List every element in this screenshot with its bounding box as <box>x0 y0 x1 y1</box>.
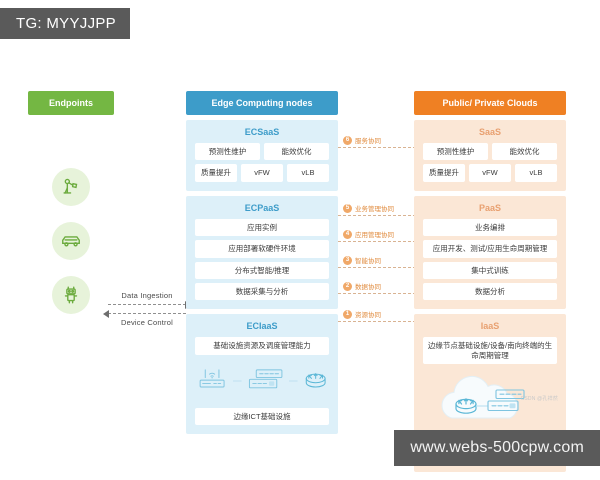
connector-app-management: 4 应用管理协同 <box>338 229 416 242</box>
paas-layer: PaaS 业务编排 应用开发、测试/应用生命周期管理 集中式训练 数据分析 <box>414 196 566 310</box>
eciaas-title: ECIaaS <box>195 321 329 331</box>
endpoints-header: Endpoints <box>28 91 114 115</box>
eciaas-icon-band <box>195 359 329 403</box>
link-line <box>289 380 298 382</box>
connector-badge: 5 <box>343 204 352 213</box>
wireless-ap-icon <box>195 364 229 398</box>
connector-label: 服务协同 <box>355 135 381 145</box>
connector-badge: 3 <box>343 256 352 265</box>
ecpaas-title: ECPaaS <box>195 203 329 213</box>
ecpaas-item[interactable]: 应用实例 <box>195 219 329 236</box>
saas-layer: SaaS 预测性维护 能效优化 质量提升 vFW vLB <box>414 120 566 191</box>
connector-label: 资源协同 <box>355 309 381 319</box>
architecture-diagram: Endpoints <box>0 78 600 408</box>
ecpaas-item[interactable]: 数据采集与分析 <box>195 283 329 300</box>
ecsaas-item[interactable]: vFW <box>241 164 283 181</box>
connector-badge: 6 <box>343 136 352 145</box>
saas-item[interactable]: 预测性维护 <box>423 143 488 160</box>
attribution-text: CSDN @孔祥然 <box>521 395 558 402</box>
saas-item[interactable]: 质量提升 <box>423 164 465 181</box>
connector-badge: 4 <box>343 230 352 239</box>
endpoint-icon-list <box>28 168 114 330</box>
paas-item[interactable]: 业务编排 <box>423 219 557 236</box>
ecsaas-item[interactable]: vLB <box>287 164 329 181</box>
saas-item[interactable]: vLB <box>515 164 557 181</box>
connector-business-management: 5 业务管理协同 <box>338 203 416 216</box>
connector-label: 智能协同 <box>355 255 381 265</box>
public-private-clouds-header: Public/ Private Clouds <box>414 91 566 115</box>
saas-row-1: 预测性维护 能效优化 <box>423 143 557 160</box>
ecsaas-layer: ECSaaS 预测性维护 能效优化 质量提升 vFW vLB <box>186 120 338 191</box>
ecsaas-item[interactable]: 预测性维护 <box>195 143 260 160</box>
paas-title: PaaS <box>423 203 557 213</box>
connector-label: 应用管理协同 <box>355 229 394 239</box>
paas-item[interactable]: 应用开发、测试/应用生命周期管理 <box>423 240 557 257</box>
connector-badge: 1 <box>343 310 352 319</box>
router-icon <box>302 366 329 396</box>
public-private-clouds-column: Public/ Private Clouds SaaS 预测性维护 能效优化 质… <box>414 91 566 472</box>
device-control-arrow <box>104 309 190 318</box>
connector-service: 6 服务协同 <box>338 135 416 148</box>
edge-computing-column: Edge Computing nodes ECSaaS 预测性维护 能效优化 质… <box>186 91 338 434</box>
ecsaas-item[interactable]: 能效优化 <box>264 143 329 160</box>
ecpaas-layer: ECPaaS 应用实例 应用部署软硬件环境 分布式智能/推理 数据采集与分析 <box>186 196 338 310</box>
eciaas-footer[interactable]: 边缘ICT基础设施 <box>195 408 329 425</box>
tg-banner: TG: MYYJJPP <box>0 8 130 39</box>
ecsaas-row-2: 质量提升 vFW vLB <box>195 164 329 181</box>
edge-computing-header: Edge Computing nodes <box>186 91 338 115</box>
saas-item[interactable]: vFW <box>469 164 511 181</box>
iaas-item[interactable]: 边缘节点基础设施/设备/南向终端的生命周期管理 <box>423 337 557 364</box>
data-ingestion-label: Data Ingestion <box>104 291 190 300</box>
robot-arm-icon <box>52 168 90 206</box>
ecpaas-item[interactable]: 应用部署软硬件环境 <box>195 240 329 257</box>
endpoints-column: Endpoints <box>28 91 114 115</box>
paas-item[interactable]: 集中式训练 <box>423 262 557 279</box>
humanoid-robot-icon <box>52 276 90 314</box>
eciaas-layer: ECIaaS 基础设施资源及调度管理能力 <box>186 314 338 434</box>
ecsaas-row-1: 预测性维护 能效优化 <box>195 143 329 160</box>
saas-item[interactable]: 能效优化 <box>492 143 557 160</box>
link-line <box>233 380 242 382</box>
endpoint-flow-arrows: Data Ingestion Device Control <box>104 291 190 327</box>
paas-item[interactable]: 数据分析 <box>423 283 557 300</box>
connector-intelligence: 3 智能协同 <box>338 255 416 268</box>
site-watermark: www.webs-500cpw.com <box>394 430 600 466</box>
connector-data: 2 数据协同 <box>338 281 416 294</box>
iaas-title: IaaS <box>423 321 557 331</box>
ecsaas-item[interactable]: 质量提升 <box>195 164 237 181</box>
connector-badge: 2 <box>343 282 352 291</box>
connector-label: 业务管理协同 <box>355 203 394 213</box>
saas-title: SaaS <box>423 127 557 137</box>
connector-resource: 1 资源协同 <box>338 309 416 322</box>
data-ingestion-arrow <box>104 300 190 309</box>
ecpaas-item[interactable]: 分布式智能/推理 <box>195 262 329 279</box>
saas-row-2: 质量提升 vFW vLB <box>423 164 557 181</box>
switch-icon <box>246 364 285 398</box>
connector-label: 数据协同 <box>355 281 381 291</box>
ecsaas-title: ECSaaS <box>195 127 329 137</box>
car-icon <box>52 222 90 260</box>
eciaas-item[interactable]: 基础设施资源及调度管理能力 <box>195 337 329 354</box>
device-control-label: Device Control <box>104 318 190 327</box>
